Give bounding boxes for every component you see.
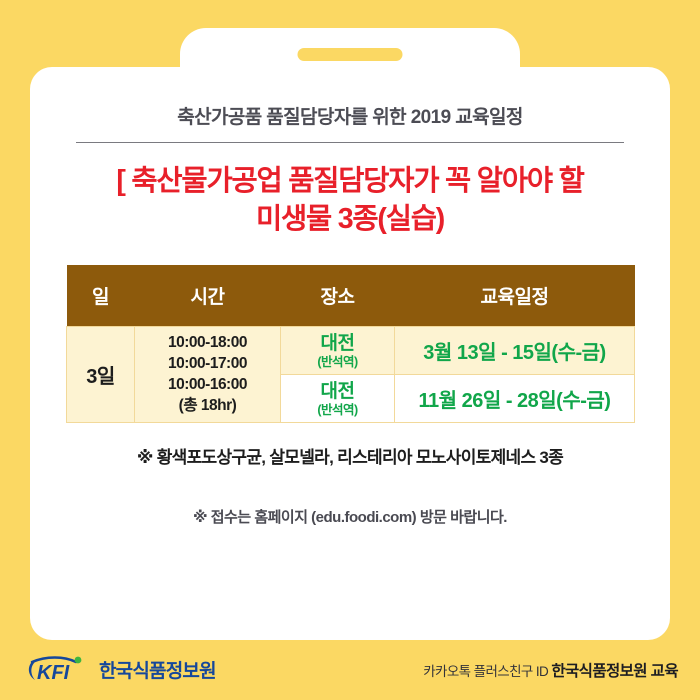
note-pathogens: ※ 황색포도상구균, 살모넬라, 리스테리아 모노사이토제네스 3종: [66, 423, 634, 468]
column-header-schedule: 교육일정: [395, 265, 635, 327]
schedule-table: 일 시간 장소 교육일정 3일 10:00-18:00 10:00-17:00 …: [66, 265, 635, 424]
cell-place: 대전 (반석역): [281, 375, 395, 423]
column-header-day: 일: [67, 265, 135, 327]
cell-place: 대전 (반석역): [281, 327, 395, 375]
notch-handle: [298, 48, 403, 61]
table-row: 3일 10:00-18:00 10:00-17:00 10:00-16:00 (…: [67, 327, 635, 375]
kfi-logo-icon: KFI: [26, 654, 92, 684]
place-station: (반석역): [283, 355, 392, 369]
brand-lockup: KFI 한국식품정보원: [26, 654, 216, 684]
time-line-1: 10:00-18:00: [168, 334, 247, 351]
time-line-3: 10:00-16:00: [168, 376, 247, 393]
svg-text:KFI: KFI: [37, 662, 70, 684]
cell-schedule: 11월 26일 - 28일(수-금): [395, 375, 635, 423]
place-name: 대전: [321, 333, 355, 354]
cell-day: 3일: [67, 327, 135, 423]
footer: KFI 한국식품정보원 카카오톡 플러스친구 ID 한국식품정보원 교육: [0, 648, 700, 700]
kakao-plus-friend: 카카오톡 플러스친구 ID 한국식품정보원 교육: [423, 659, 678, 681]
cell-time: 10:00-18:00 10:00-17:00 10:00-16:00 (총 1…: [135, 327, 281, 423]
page-title-line-2: 미생물 3종(실습): [256, 203, 444, 235]
column-header-time: 시간: [135, 265, 281, 327]
page-title: [ 축산물가공업 품질담당자가 꼭 알아야 할 미생물 3종(실습): [66, 143, 634, 239]
main-card: 축산가공품 품질담당자를 위한 2019 교육일정 [ 축산물가공업 품질담당자…: [30, 67, 670, 640]
time-line-2: 10:00-17:00: [168, 355, 247, 372]
cell-schedule: 3월 13일 - 15일(수-금): [395, 327, 635, 375]
table-header-row: 일 시간 장소 교육일정: [67, 265, 635, 327]
place-station: (반석역): [283, 403, 392, 417]
kakao-id: 한국식품정보원 교육: [551, 663, 678, 680]
brand-name: 한국식품정보원: [99, 656, 216, 683]
kakao-label: 카카오톡 플러스친구 ID: [423, 664, 548, 679]
column-header-place: 장소: [281, 265, 395, 327]
time-line-4: (총 18hr): [179, 397, 237, 414]
place-name: 대전: [321, 381, 355, 402]
page-subtitle: 축산가공품 품질담당자를 위한 2019 교육일정: [66, 67, 634, 129]
page-title-line-1: [ 축산물가공업 품질담당자가 꼭 알아야 할: [116, 165, 583, 197]
note-registration: ※ 접수는 홈페이지 (edu.foodi.com) 방문 바랍니다.: [66, 468, 634, 527]
